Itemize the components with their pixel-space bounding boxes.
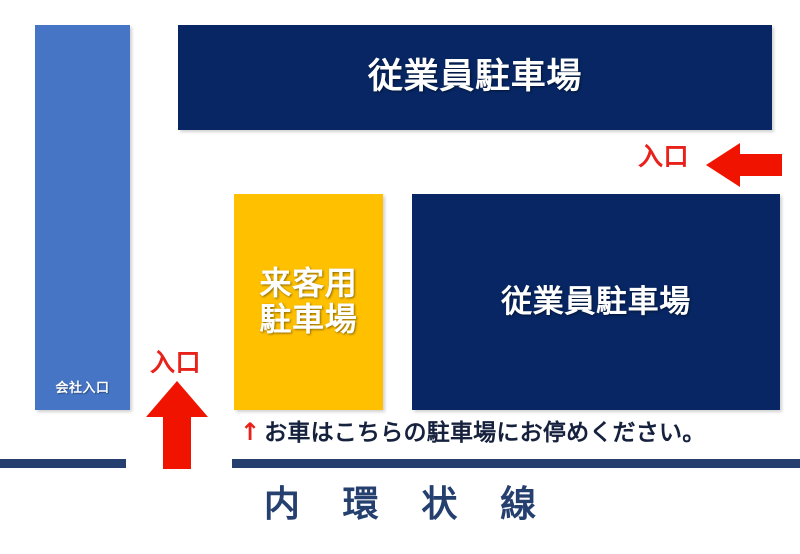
lot-label-employee-parking-top: 従業員駐車場 xyxy=(368,58,582,97)
up-caret-icon: ↑ xyxy=(240,420,260,444)
lot-employee-parking-top: 従業員駐車場 xyxy=(178,25,772,130)
entrance-arrow-left-icon xyxy=(706,143,782,187)
entrance-label-bottom: 入口 xyxy=(150,350,201,375)
parking-instruction-text: お車はこちらの駐車場にお停めください。 xyxy=(264,422,705,445)
lot-visitor-parking: 来客用 駐車場 xyxy=(234,194,383,410)
parking-instruction: ↑ お車はこちらの駐車場にお停めください。 xyxy=(240,421,705,445)
entrance-label-right: 入口 xyxy=(638,144,689,169)
entrance-arrow-up-icon xyxy=(146,381,208,469)
parking-lot-diagram: 会社入口 従業員駐車場 入口 来客用 駐車場 従業員駐車場 入口 ↑ お車はこち… xyxy=(0,0,800,554)
lot-employee-parking-right: 従業員駐車場 xyxy=(412,194,780,410)
road-line-right-segment xyxy=(232,459,800,468)
lot-label-visitor-parking: 来客用 駐車場 xyxy=(260,266,358,338)
company-building-bar: 会社入口 xyxy=(35,25,130,410)
road-line-left-segment xyxy=(0,459,126,468)
road-name-label: 内 環 状 線 xyxy=(0,487,800,523)
company-entrance-label: 会社入口 xyxy=(35,377,130,396)
lot-label-employee-parking-right: 従業員駐車場 xyxy=(501,285,691,320)
